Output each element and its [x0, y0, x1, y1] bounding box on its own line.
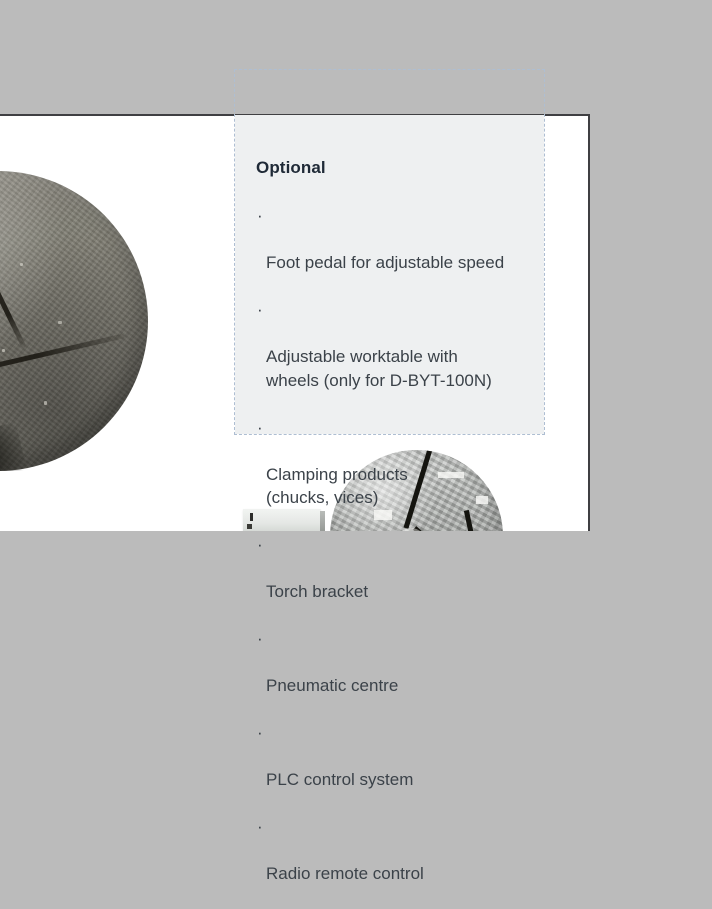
- disc-groove-primary: [0, 333, 125, 405]
- optional-feature-list: · Foot pedal for adjustable speed · Adju…: [256, 204, 531, 909]
- optional-block-title: Optional: [256, 158, 531, 178]
- optional-block: Optional · Foot pedal for adjustable spe…: [256, 158, 531, 909]
- list-item: · Adjustable worktable with wheels (only…: [256, 298, 531, 416]
- list-item-label: Adjustable worktable with wheels (only f…: [266, 345, 531, 392]
- disc-speck: [2, 349, 5, 352]
- bullet-icon: ·: [257, 533, 263, 557]
- list-item: · Foot pedal for adjustable speed: [256, 204, 531, 298]
- bullet-icon: ·: [257, 815, 263, 839]
- list-item-label: Clamping products (chucks, vices): [266, 463, 531, 510]
- list-item: · Radio remote control: [256, 815, 531, 909]
- disc-speck: [20, 263, 23, 266]
- bullet-icon: ·: [257, 298, 263, 322]
- bullet-icon: ·: [257, 416, 263, 440]
- bullet-icon: ·: [257, 721, 263, 745]
- list-item: · Torch bracket: [256, 533, 531, 627]
- machine-body-mark: [247, 524, 252, 529]
- disc-speck: [44, 401, 47, 405]
- list-item: · Pneumatic centre: [256, 627, 531, 721]
- metal-disc-surface: [0, 171, 148, 471]
- bullet-icon: ·: [257, 627, 263, 651]
- list-item-label: Torch bracket: [266, 580, 531, 604]
- list-item-label: Foot pedal for adjustable speed: [266, 251, 531, 275]
- list-item-label: Radio remote control: [266, 862, 531, 886]
- machine-body-mark: [250, 513, 253, 521]
- disc-speck: [58, 321, 62, 324]
- document-canvas: Optional · Foot pedal for adjustable spe…: [0, 0, 712, 529]
- list-item-label: Pneumatic centre: [266, 674, 531, 698]
- list-item: · PLC control system: [256, 721, 531, 815]
- disc-groove-secondary: [0, 238, 27, 348]
- metal-disc-photo: [0, 171, 148, 471]
- list-item: · Clamping products (chucks, vices): [256, 416, 531, 534]
- list-item-label: PLC control system: [266, 768, 531, 792]
- bullet-icon: ·: [257, 204, 263, 228]
